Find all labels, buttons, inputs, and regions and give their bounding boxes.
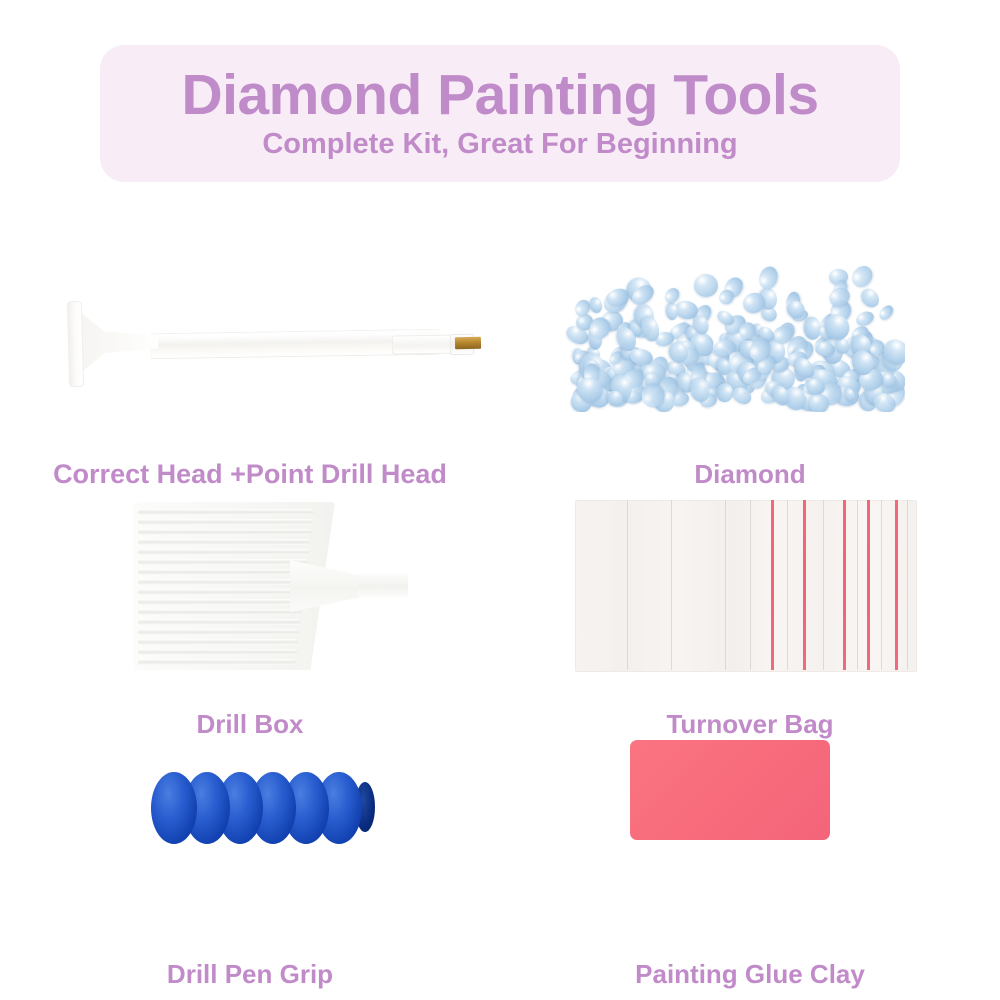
bag-zip-seal <box>803 500 806 670</box>
tray-groove <box>138 599 303 605</box>
product-label-drill-box: Drill Box <box>197 709 304 740</box>
tray-groove <box>138 639 298 645</box>
product-item-diamond: Diamond <box>500 220 1000 490</box>
pen-flare <box>74 307 158 379</box>
product-grid: Correct Head +Point Drill Head Diamond D… <box>0 200 1000 1000</box>
tray-groove <box>138 649 297 655</box>
bag-fold-line <box>881 500 882 670</box>
tray-groove <box>138 559 308 565</box>
clay-block <box>630 740 830 840</box>
tray-groove <box>138 509 314 515</box>
ziplock-bags-icon <box>575 500 915 670</box>
tray-groove <box>138 589 304 595</box>
tray-groove <box>138 569 307 575</box>
bag-zip-seal <box>867 500 870 670</box>
turnover-bag-image <box>500 490 1000 709</box>
product-item-drill-pen: Correct Head +Point Drill Head <box>0 220 500 490</box>
drill-pen-icon <box>62 295 487 390</box>
product-label-painting-glue-clay: Painting Glue Clay <box>635 959 865 990</box>
tray-groove <box>138 539 310 545</box>
product-label-diamond: Diamond <box>694 459 805 490</box>
drill-box-image <box>0 490 500 709</box>
bag-fold-line <box>725 500 726 670</box>
product-item-painting-glue-clay: Painting Glue Clay <box>500 740 1000 990</box>
product-item-turnover-bag: Turnover Bag <box>500 490 1000 740</box>
diamond-bead <box>757 264 781 291</box>
bag-fold-line <box>857 500 858 670</box>
drill-tray-icon <box>130 500 410 675</box>
tray-groove <box>138 579 306 585</box>
product-item-drill-pen-grip: Drill Pen Grip <box>0 740 500 990</box>
tray-neck <box>290 560 365 612</box>
bag-zip-seal <box>895 500 898 670</box>
grip-ridge <box>151 772 197 844</box>
bag-fold-line <box>787 500 788 670</box>
tray-groove <box>138 529 312 535</box>
product-item-drill-box: Drill Box <box>0 490 500 740</box>
drill-pen-image <box>0 220 500 459</box>
drill-pen-grip-image <box>0 740 500 959</box>
pen-correction-head-icon <box>67 301 84 387</box>
painting-glue-clay-image <box>500 740 1000 959</box>
tray-groove <box>138 549 309 555</box>
bag-zip-seal <box>771 500 774 670</box>
product-label-drill-pen-grip: Drill Pen Grip <box>167 959 333 990</box>
glue-clay-icon <box>630 740 850 850</box>
diamond-bead <box>588 296 603 314</box>
bag-fold-line <box>823 500 824 670</box>
tray-groove <box>138 659 296 665</box>
tray-groove <box>138 629 300 635</box>
foam-grip-icon <box>145 760 375 860</box>
diamond-bead <box>858 286 883 312</box>
diamond-bead <box>716 383 734 402</box>
diamond-bead <box>694 273 719 297</box>
bag-fold-line <box>907 500 908 670</box>
page-title: Diamond Painting Tools <box>181 66 818 126</box>
product-label-drill-pen: Correct Head +Point Drill Head <box>53 459 447 490</box>
header-banner: Diamond Painting Tools Complete Kit, Gre… <box>100 45 900 182</box>
diamond-beads-icon <box>565 262 905 412</box>
page-subtitle: Complete Kit, Great For Beginning <box>262 129 737 161</box>
bag-zip-seal <box>843 500 846 670</box>
pen-gold-tip-icon <box>455 337 481 350</box>
product-label-turnover-bag: Turnover Bag <box>666 709 833 740</box>
bag-fold-line <box>671 500 672 670</box>
diamond-image <box>500 220 1000 459</box>
bag-fold-line <box>750 500 751 670</box>
bag-fold-line <box>627 500 628 670</box>
diamond-bead <box>848 262 876 291</box>
diamond-bead <box>665 302 679 321</box>
tray-groove <box>138 519 313 525</box>
diamond-bead <box>877 303 896 322</box>
tray-groove <box>138 619 301 625</box>
tray-groove <box>138 609 302 615</box>
tray-handle <box>358 573 408 597</box>
